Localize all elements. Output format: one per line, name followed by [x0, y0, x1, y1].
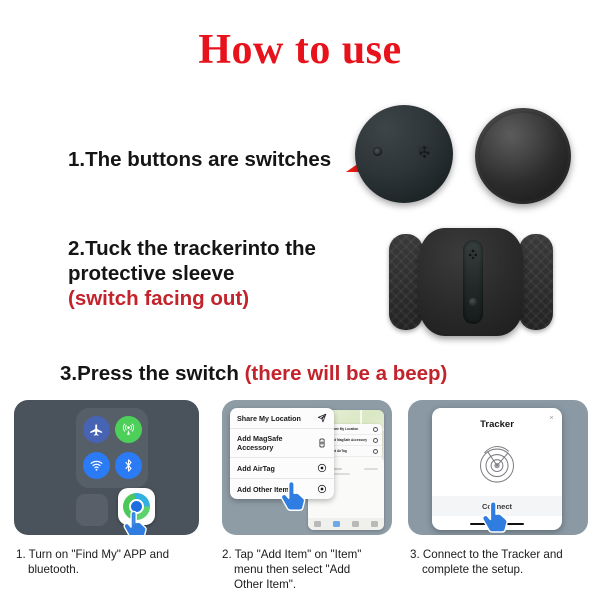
- sleeve-strap-right: [519, 234, 553, 330]
- tracker-switch-button: [469, 298, 477, 306]
- step-3-heading: 3.Press the switch (there will be a beep…: [60, 362, 447, 386]
- step-3-note: (there will be a beep): [245, 362, 448, 385]
- caption-line: 1. Turn on "Find My" APP and: [16, 548, 169, 561]
- screenshot-panels: Share My Location Add MagSafe Accessory …: [0, 400, 600, 540]
- step-2-heading: 2.Tuck the trackerinto the protective sl…: [68, 236, 378, 311]
- caption-line: Other Item".: [222, 577, 402, 592]
- tab-devices-icon: [333, 521, 340, 527]
- menu-item-add-magsafe-accessory[interactable]: Add MagSafe Accessory: [230, 429, 334, 458]
- step-2-line-2: protective sleeve: [68, 262, 234, 285]
- sleeve-strap-left: [389, 234, 423, 330]
- target-icon: [317, 484, 327, 494]
- caption-step-2: 2. Tap "Add Item" on "Item" menu then se…: [222, 547, 402, 592]
- tracker-back-disc: [475, 108, 571, 204]
- step-3-label: 3.Press the switch: [60, 362, 245, 385]
- caption-line: 3. Connect to the Tracker and: [410, 548, 563, 561]
- caption-line: complete the setup.: [410, 562, 595, 577]
- tab-me-icon: [371, 521, 378, 527]
- caption-line: bluetooth.: [16, 562, 211, 577]
- cellular-data-toggle[interactable]: [115, 416, 142, 443]
- caption-step-3: 3. Connect to the Tracker and complete t…: [410, 547, 595, 577]
- pointing-hand-cursor-icon: [120, 508, 154, 535]
- mini-menu-item: Share My Location: [326, 424, 382, 435]
- close-icon[interactable]: ×: [548, 415, 555, 422]
- bluetooth-icon: [121, 458, 136, 473]
- tab-items-icon: [352, 521, 359, 527]
- pointing-hand-cursor-icon: [478, 498, 516, 535]
- pointing-hand-cursor-icon: [277, 478, 313, 514]
- tracker-front-disc: [355, 105, 453, 203]
- wifi-toggle[interactable]: [83, 452, 110, 479]
- toggle-group: [76, 408, 148, 488]
- menu-item-label: Add AirTag: [237, 464, 275, 473]
- dialog-title: Tracker: [432, 419, 562, 430]
- phone-icon: [373, 438, 378, 443]
- step-2-line-1: 2.Tuck the trackerinto the: [68, 237, 316, 260]
- how-to-use-infographic: How to use 1.The buttons are switches 2.…: [0, 0, 600, 600]
- paper-plane-icon: [317, 413, 327, 423]
- menu-item-add-airtag[interactable]: Add AirTag: [230, 458, 334, 479]
- mini-menu-item: Add AirTag: [326, 446, 382, 457]
- cellular-icon: [121, 422, 136, 437]
- target-icon: [373, 449, 378, 454]
- radar-icon: [473, 442, 521, 486]
- step-2-note: (switch facing out): [68, 286, 378, 311]
- tracker-switch-button: [373, 147, 382, 156]
- empty-toggle-tile: [76, 494, 108, 526]
- target-icon: [317, 463, 327, 473]
- paper-plane-icon: [373, 427, 378, 432]
- sleeve-body: [419, 228, 523, 336]
- step-1-heading: 1.The buttons are switches: [68, 148, 331, 172]
- phone-tab-bar: [308, 518, 384, 530]
- tracker-speaker-icon: [418, 145, 431, 158]
- mini-label: Share My Location: [330, 427, 358, 431]
- caption-line: menu then select "Add: [222, 562, 402, 577]
- sleeve-tracker-slot: [463, 240, 483, 324]
- tab-people-icon: [314, 521, 321, 527]
- mini-menu-item: Add MagSafe Accessory: [326, 435, 382, 446]
- airplane-icon: [89, 422, 104, 437]
- menu-item-share-my-location[interactable]: Share My Location: [230, 408, 334, 429]
- wifi-icon: [89, 458, 104, 473]
- caption-step-1: 1. Turn on "Find My" APP and bluetooth.: [16, 547, 211, 577]
- mini-label: Add MagSafe Accessory: [330, 438, 367, 442]
- panel-tracker-dialog: Tracker × Connect: [408, 400, 588, 535]
- tracker-speaker-icon: [468, 249, 478, 259]
- menu-item-label: Add MagSafe Accessory: [237, 434, 317, 452]
- panel-control-center: [14, 400, 199, 535]
- airplane-mode-toggle[interactable]: [83, 416, 110, 443]
- panel-add-item-menu: Share My Location Add MagSafe Accessory …: [222, 400, 392, 535]
- phone-icon: [317, 438, 327, 448]
- protective-sleeve: [385, 228, 565, 338]
- page-title: How to use: [0, 26, 600, 74]
- bluetooth-toggle[interactable]: [115, 452, 142, 479]
- menu-item-label: Share My Location: [237, 414, 301, 423]
- caption-line: 2. Tap "Add Item" on "Item": [222, 548, 361, 561]
- tracker-discs: [355, 105, 595, 210]
